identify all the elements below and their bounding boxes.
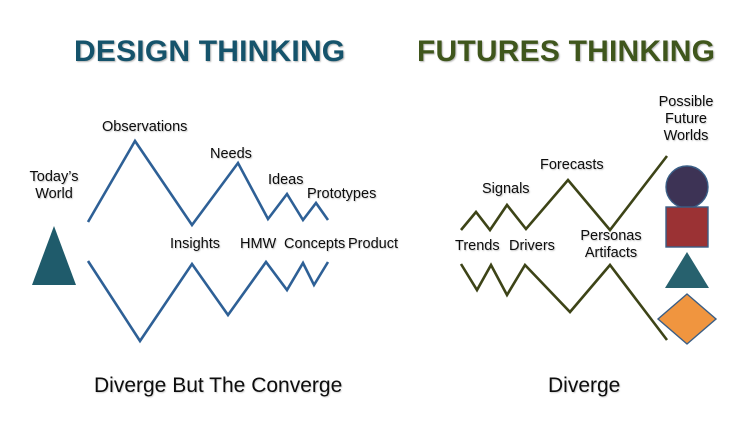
outcome-circle <box>666 166 708 208</box>
right-panel-caption: Diverge <box>548 374 620 398</box>
label-pfw-line3: Worlds <box>664 128 709 144</box>
right-lower-zigzag <box>461 264 667 340</box>
label-pfw-line1: Possible <box>659 94 714 110</box>
label-signals: Signals <box>482 181 530 198</box>
outcome-triangle <box>665 252 709 288</box>
label-drivers: Drivers <box>509 238 555 255</box>
diagram-canvas: DESIGN THINKING FUTURES THINKING Today’s… <box>0 0 750 437</box>
outcome-square <box>666 207 708 247</box>
outcome-diamond <box>658 294 716 344</box>
label-artifacts: Artifacts <box>585 245 637 261</box>
label-trends: Trends <box>455 238 500 255</box>
label-possible-future-worlds: Possible Future Worlds <box>650 94 722 145</box>
label-personas-artifacts: Personas Artifacts <box>578 228 644 262</box>
right-panel-zigzags <box>0 0 750 437</box>
left-panel-caption: Diverge But The Converge <box>94 374 342 398</box>
label-pfw-line2: Future <box>665 111 707 127</box>
label-personas: Personas <box>580 228 641 244</box>
label-forecasts: Forecasts <box>540 157 604 174</box>
